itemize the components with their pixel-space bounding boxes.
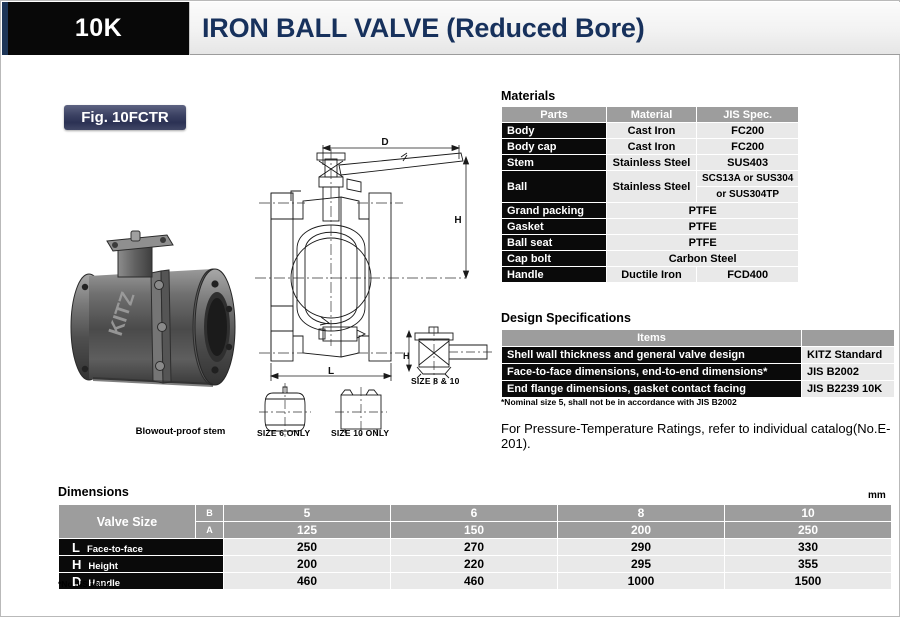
size-a-value: 150: [391, 522, 558, 539]
dimension-row-label: LFace-to-face: [59, 539, 224, 556]
column-header-jis: JIS Spec.: [697, 107, 799, 123]
material-jis-value: FC200: [697, 139, 799, 155]
table-header-row: Parts Material JIS Spec.: [502, 107, 799, 123]
header-divider: [189, 2, 190, 55]
dimension-row-label: HHeight: [59, 556, 224, 573]
material-part-name: Gasket: [502, 219, 607, 235]
pressure-temperature-note: For Pressure-Temperature Ratings, refer …: [501, 421, 899, 451]
materials-section-title: Materials: [501, 89, 555, 103]
table-row: Body cap Cast Iron FC200: [502, 139, 799, 155]
table-row: Gasket PTFE: [502, 219, 799, 235]
size-code-a: A: [196, 522, 224, 539]
dimension-label-H: H: [454, 215, 461, 226]
table-row: Stem Stainless Steel SUS403: [502, 155, 799, 171]
dimension-value: 1000: [558, 573, 725, 590]
table-row: Ball Stainless Steel SCS13A or SUS304: [502, 171, 799, 187]
dimension-value: 355: [725, 556, 892, 573]
column-header-material: Material: [607, 107, 697, 123]
dimension-value: 295: [558, 556, 725, 573]
dimension-value: 330: [725, 539, 892, 556]
size-code-b: B: [196, 505, 224, 522]
material-value: Stainless Steel: [607, 171, 697, 203]
materials-table: Parts Material JIS Spec. Body Cast Iron …: [501, 106, 799, 283]
table-row: Body Cast Iron FC200: [502, 123, 799, 139]
size-b-value: 10: [725, 505, 892, 522]
material-part-name: Ball: [502, 171, 607, 203]
dimensions-table: Valve Size B 5 6 8 10 A 125 150 200 250 …: [58, 504, 892, 590]
dimension-code: H: [64, 557, 88, 572]
dimensions-section-title: Dimensions: [58, 485, 129, 499]
material-value: Stainless Steel: [607, 155, 697, 171]
material-jis-value-line2: or SUS304TP: [697, 187, 799, 203]
table-row: Handle Ductile Iron FCD400: [502, 267, 799, 283]
material-value: Cast Iron: [607, 123, 697, 139]
detail-view-caption-size8and10: SIZE 8 & 10: [411, 376, 460, 386]
dimension-value: 460: [224, 573, 391, 590]
dimension-value: 290: [558, 539, 725, 556]
material-merged-value: PTFE: [607, 235, 799, 251]
material-merged-value: Carbon Steel: [607, 251, 799, 267]
column-header-parts: Parts: [502, 107, 607, 123]
dimension-value: 460: [391, 573, 558, 590]
dimension-value: 220: [391, 556, 558, 573]
design-spec-footnote: *Nominal size 5, shall not be in accorda…: [501, 397, 737, 407]
dimensions-footnote: *No JIS Mark: [58, 579, 110, 589]
table-row: Ball seat PTFE: [502, 235, 799, 251]
material-value: Ductile Iron: [607, 267, 697, 283]
table-row: Cap bolt Carbon Steel: [502, 251, 799, 267]
dimension-name: Height: [88, 561, 118, 572]
dimension-value: 250: [224, 539, 391, 556]
dimension-code: L: [64, 540, 87, 555]
spec-item-name: Shell wall thickness and general valve d…: [502, 347, 802, 364]
material-jis-value: SUS403: [697, 155, 799, 171]
dimension-value: 1500: [725, 573, 892, 590]
size-a-value: 200: [558, 522, 725, 539]
spec-standard-value: JIS B2002: [802, 364, 895, 381]
design-specifications-table: Items Shell wall thickness and general v…: [501, 329, 895, 398]
table-row: Face-to-face dimensions, end-to-end dime…: [502, 364, 895, 381]
table-row: Grand packing PTFE: [502, 203, 799, 219]
size-b-value: 5: [224, 505, 391, 522]
material-part-name: Body cap: [502, 139, 607, 155]
column-header-standard: [802, 330, 895, 347]
page-header: 10K IRON BALL VALVE (Reduced Bore): [2, 2, 900, 55]
detail-view-caption-size6: SIZE 6 ONLY: [257, 428, 310, 438]
table-row: End flange dimensions, gasket contact fa…: [502, 381, 895, 398]
size-a-value: 125: [224, 522, 391, 539]
pressure-rating-label: 10K: [8, 2, 189, 55]
material-value: Cast Iron: [607, 139, 697, 155]
datasheet-page: 10K IRON BALL VALVE (Reduced Bore) Fig. …: [0, 0, 900, 617]
spec-item-name: Face-to-face dimensions, end-to-end dime…: [502, 364, 802, 381]
size-a-value: 250: [725, 522, 892, 539]
page-title: IRON BALL VALVE (Reduced Bore): [202, 2, 645, 55]
size-b-value: 6: [391, 505, 558, 522]
spec-standard-value: JIS B2239 10K: [802, 381, 895, 398]
table-header-row: Items: [502, 330, 895, 347]
table-header-row-b: Valve Size B 5 6 8 10: [59, 505, 892, 522]
dimension-label-H-small: H: [403, 351, 410, 361]
dimension-label-D: D: [381, 137, 388, 148]
dimensions-unit-label: mm: [868, 490, 886, 501]
table-row: DHandle 460 460 1000 1500: [59, 573, 892, 590]
material-part-name: Stem: [502, 155, 607, 171]
material-jis-value: FCD400: [697, 267, 799, 283]
material-merged-value: PTFE: [607, 219, 799, 235]
dimension-name: Face-to-face: [87, 544, 143, 555]
material-part-name: Cap bolt: [502, 251, 607, 267]
dimension-value: 200: [224, 556, 391, 573]
size-b-value: 8: [558, 505, 725, 522]
material-part-name: Body: [502, 123, 607, 139]
dimension-label-L: L: [328, 366, 334, 377]
material-part-name: Grand packing: [502, 203, 607, 219]
column-header-items: Items: [502, 330, 802, 347]
dimension-value: 270: [391, 539, 558, 556]
valve-technical-drawing: D H L: [251, 131, 496, 446]
table-row: HHeight 200 220 295 355: [59, 556, 892, 573]
design-spec-section-title: Design Specifications: [501, 311, 631, 325]
spec-standard-value: KITZ Standard: [802, 347, 895, 364]
table-row: LFace-to-face 250 270 290 330: [59, 539, 892, 556]
detail-view-caption-size10: SIZE 10 ONLY: [331, 428, 389, 438]
spec-item-name: End flange dimensions, gasket contact fa…: [502, 381, 802, 398]
material-jis-value: SCS13A or SUS304: [697, 171, 799, 187]
material-part-name: Handle: [502, 267, 607, 283]
valve-size-header: Valve Size: [59, 505, 196, 539]
table-row: Shell wall thickness and general valve d…: [502, 347, 895, 364]
material-merged-value: PTFE: [607, 203, 799, 219]
material-jis-value: FC200: [697, 123, 799, 139]
figure-badge: Fig. 10FCTR: [64, 105, 186, 130]
material-part-name: Ball seat: [502, 235, 607, 251]
